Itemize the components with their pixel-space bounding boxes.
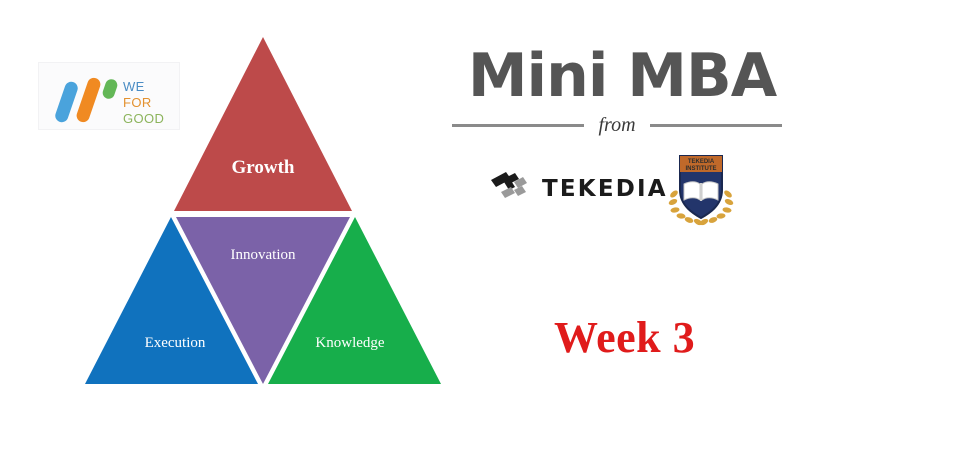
- pyramid-label-growth: Growth: [232, 157, 295, 178]
- from-rule-left: [452, 124, 584, 127]
- from-divider-row: from: [452, 114, 782, 137]
- partner-logos-row: TEKEDIA TEKEDIA INST: [452, 148, 792, 234]
- pyramid-label-execution: Execution: [145, 335, 206, 351]
- tekedia-wordmark: TEKEDIA: [542, 176, 668, 202]
- from-label: from: [584, 114, 649, 137]
- pyramid-label-innovation: Innovation: [231, 247, 296, 263]
- crest-text-line-2: INSTITUTE: [686, 166, 717, 172]
- slide-canvas: WE FOR GOOD Growth Innovation Execution …: [0, 0, 956, 458]
- crest-book-icon: [684, 182, 718, 201]
- mini-mba-title: Mini MBA: [452, 44, 792, 108]
- tekedia-logo: TEKEDIA: [490, 166, 675, 210]
- crest-text-line-1: TEKEDIA: [688, 159, 715, 165]
- week-label: Week 3: [554, 312, 695, 363]
- pyramid-segment-growth[interactable]: [174, 37, 352, 211]
- pyramid-label-knowledge: Knowledge: [315, 335, 384, 351]
- growth-pyramid-svg: Growth Innovation Execution Knowledge: [78, 27, 448, 397]
- growth-pyramid-diagram: Growth Innovation Execution Knowledge: [78, 27, 448, 397]
- tekedia-mark-icon: [490, 170, 534, 206]
- from-rule-right: [650, 124, 782, 127]
- tekedia-institute-crest-icon: TEKEDIA INSTITUTE: [660, 150, 742, 230]
- we-for-good-bar-blue-icon: [54, 80, 80, 124]
